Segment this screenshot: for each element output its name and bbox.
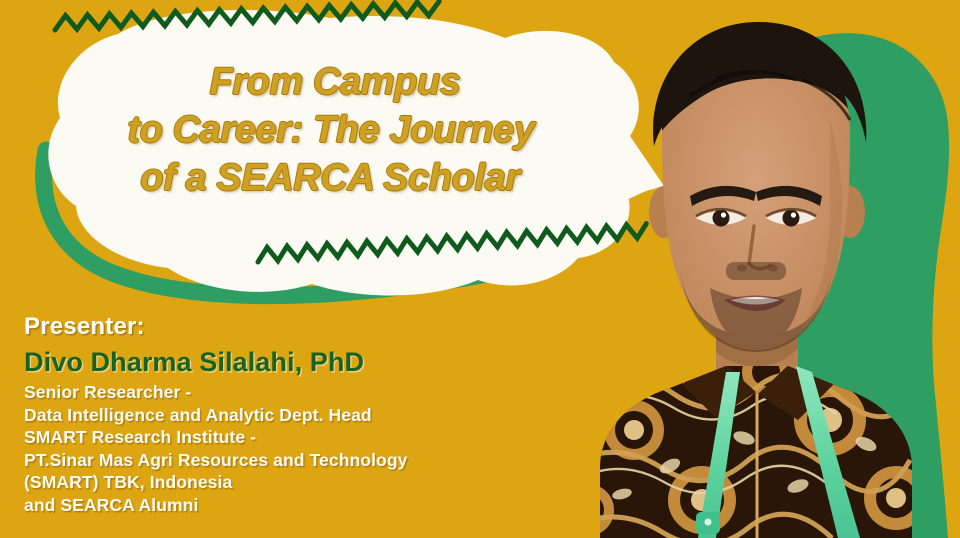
affiliation-line: SMART Research Institute - — [24, 426, 544, 449]
title-line-3: of a SEARCA Scholar — [48, 154, 612, 202]
presenter-name: Divo Dharma Silalahi, PhD — [24, 344, 544, 380]
affiliation-line: PT.Sinar Mas Agri Resources and Technolo… — [24, 449, 544, 472]
affiliation-line: (SMART) TBK, Indonesia — [24, 471, 544, 494]
webinar-poster: From Campus to Career: The Journey of a … — [0, 0, 960, 538]
presenter-affiliation: Senior Researcher - Data Intelligence an… — [24, 381, 544, 516]
batik-shirt — [530, 340, 960, 538]
presenter-block: Presenter: Divo Dharma Silalahi, PhD Sen… — [24, 312, 544, 516]
affiliation-line: Senior Researcher - — [24, 381, 544, 404]
presenter-label: Presenter: — [24, 312, 544, 342]
title-line-2: to Career: The Journey — [50, 106, 612, 154]
affiliation-line: Data Intelligence and Analytic Dept. Hea… — [24, 404, 544, 427]
title-line-1: From Campus — [58, 58, 612, 106]
face — [649, 22, 866, 352]
affiliation-line: and SEARCA Alumni — [24, 494, 544, 517]
poster-title: From Campus to Career: The Journey of a … — [52, 58, 612, 202]
